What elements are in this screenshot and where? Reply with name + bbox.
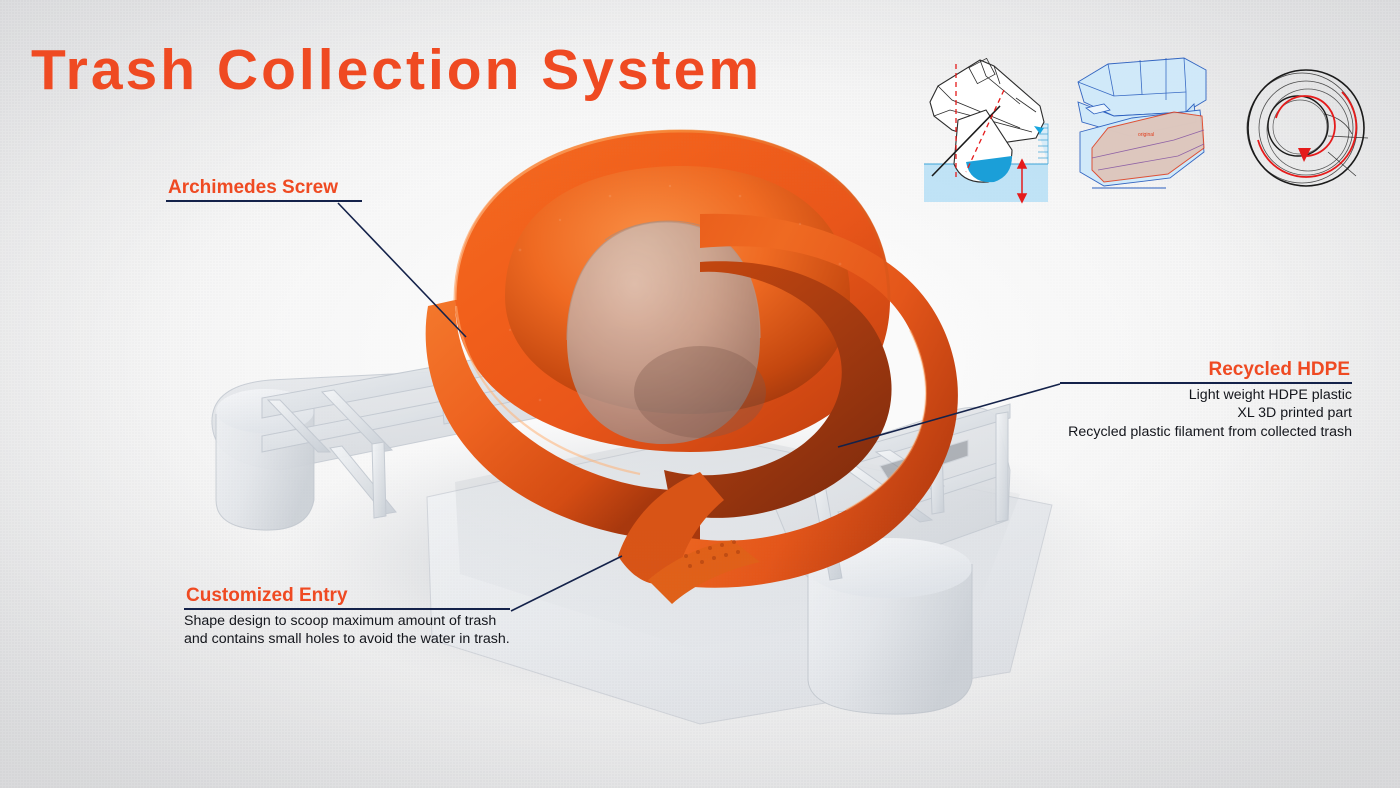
thumbnail-strip: original [908, 44, 1376, 210]
cad-annotation-label: original [1138, 132, 1154, 138]
thumbnail-cad-overlay-original-vs-revised[interactable]: original [1074, 44, 1226, 210]
callout-rule-recycled-hdpe [1060, 382, 1352, 384]
callout-title-customized-entry: Customized Entry [184, 586, 510, 606]
callout-customized-entry: Customized Entry Shape design to scoop m… [184, 586, 510, 649]
rotation-arrow [1258, 92, 1356, 177]
concentric-circles [1247, 70, 1364, 186]
thumbnail-tilted-vessel-waterline-sketch[interactable] [908, 44, 1068, 210]
slide-canvas: Trash Collection System Archimedes Screw… [0, 0, 1400, 788]
callout-body-line-3: Recycled plastic filament from collected… [1060, 423, 1352, 441]
callout-title-recycled-hdpe: Recycled HDPE [1060, 360, 1352, 380]
callout-recycled-hdpe: Recycled HDPE Light weight HDPE plastic … [1060, 360, 1352, 441]
callout-archimedes-screw: Archimedes Screw [166, 178, 362, 202]
callout-rule-archimedes-screw [166, 200, 362, 202]
callout-body-line-2: and contains small holes to avoid the wa… [184, 630, 510, 648]
page-title: Trash Collection System [31, 42, 762, 99]
inner-hub [567, 221, 766, 444]
callout-body-line-1: Light weight HDPE plastic [1060, 386, 1352, 404]
callout-title-archimedes-screw: Archimedes Screw [166, 178, 362, 198]
thumbnail-top-view-rotation-diagram[interactable] [1232, 44, 1382, 210]
callout-body-line-1: Shape design to scoop maximum amount of … [184, 612, 510, 630]
callout-body-line-2: XL 3D printed part [1060, 404, 1352, 422]
callout-rule-customized-entry [184, 608, 510, 610]
